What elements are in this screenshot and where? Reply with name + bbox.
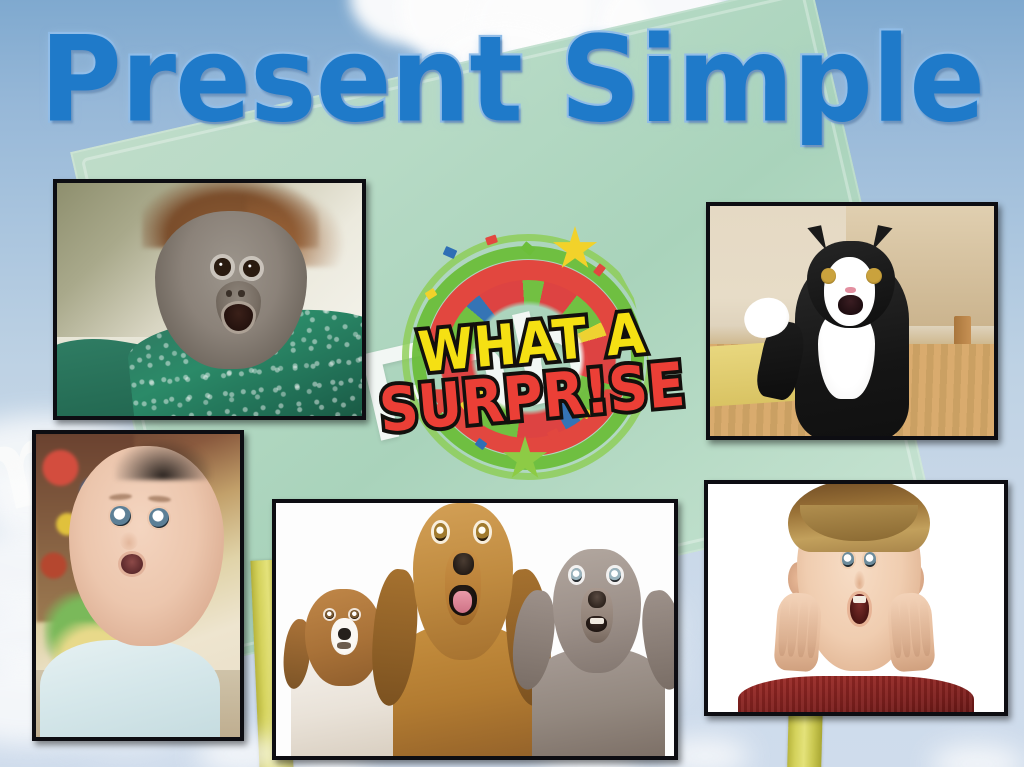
- slide: Fab m Present Simple: [0, 0, 1024, 767]
- monkey-photo-image: [57, 183, 362, 416]
- monkey-photo[interactable]: [53, 179, 366, 420]
- baby-photo-image: [36, 434, 240, 737]
- cat-photo[interactable]: [706, 202, 998, 440]
- weimaraner-dog: [523, 549, 674, 756]
- star-icon: [502, 436, 548, 482]
- dogs-photo-image: [276, 503, 674, 756]
- star-icon: [552, 226, 598, 272]
- dogs-photo[interactable]: [272, 499, 678, 760]
- what-a-surprise-logo: WHAT A SURPR!SE: [382, 218, 682, 498]
- boy-photo[interactable]: [704, 480, 1008, 716]
- cat-photo-image: [710, 206, 994, 436]
- page-title: Present Simple: [0, 21, 1024, 140]
- boy-photo-image: [708, 484, 1004, 712]
- baby-photo[interactable]: [32, 430, 244, 741]
